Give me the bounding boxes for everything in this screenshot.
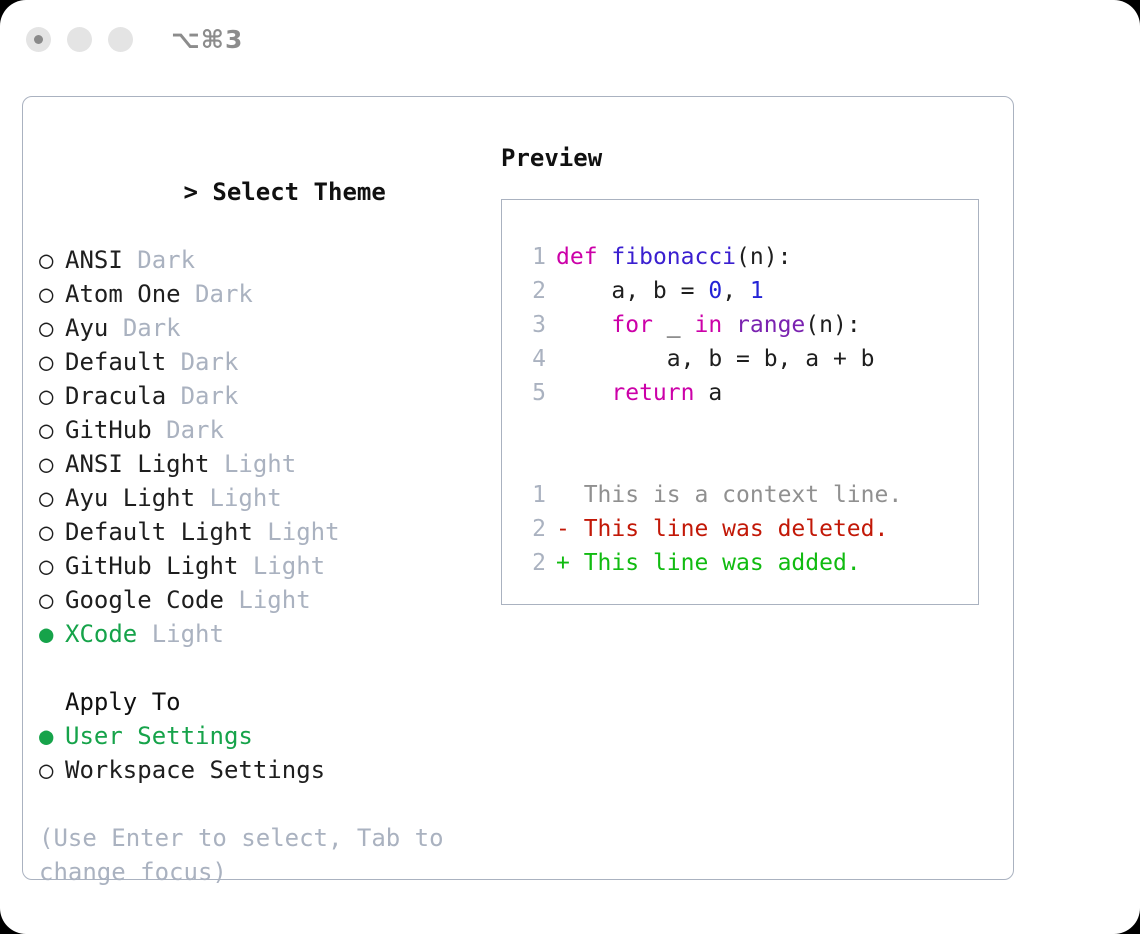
code-token-fn: fibonacci <box>611 244 736 270</box>
diff-line-ctx: 1 This is a context line. <box>520 478 978 512</box>
theme-option-name: GitHub <box>65 416 152 444</box>
theme-option-ansi[interactable]: ○ANSI Dark <box>39 243 499 277</box>
theme-name-variant-gap <box>181 280 195 308</box>
code-token-plain: (n): <box>736 244 791 270</box>
code-token-plain: a, b = <box>556 278 708 304</box>
line-number: 2 <box>520 274 546 308</box>
theme-option-name: ANSI <box>65 246 123 274</box>
preview-title: Preview <box>501 141 1001 175</box>
select-theme-prompt-prefix: > <box>184 178 213 206</box>
code-line: 3 for _ in range(n): <box>520 308 978 342</box>
diff-text: This is a context line. <box>584 482 903 508</box>
theme-name-variant-gap <box>166 348 180 376</box>
code-token-plain: a, b = b, a + b <box>556 346 875 372</box>
line-number: 2 <box>520 546 546 580</box>
theme-option-name: GitHub Light <box>65 552 238 580</box>
radio-selected-icon: ● <box>39 719 65 753</box>
code-token-plain: a <box>694 380 722 406</box>
theme-option-name: XCode <box>65 620 137 648</box>
code-line: 2 a, b = 0, 1 <box>520 274 978 308</box>
theme-name-variant-gap <box>224 586 238 614</box>
diff-text: This line was deleted. <box>584 516 889 542</box>
code-token-num: 0 <box>708 278 722 304</box>
theme-option-variant: Dark <box>166 416 224 444</box>
theme-name-variant-gap <box>137 620 151 648</box>
code-token-num: 1 <box>750 278 764 304</box>
code-token-plain <box>722 312 736 338</box>
code-line: 5 return a <box>520 376 978 410</box>
theme-option-google-code[interactable]: ○Google Code Light <box>39 583 499 617</box>
radio-unselected-icon: ○ <box>39 413 65 447</box>
apply-to-option-workspace-settings[interactable]: ○Workspace Settings <box>39 753 499 787</box>
radio-unselected-icon: ○ <box>39 549 65 583</box>
code-token-plain: (n): <box>805 312 860 338</box>
window-titlebar: ⌥⌘3 <box>0 0 1140 78</box>
diff-line-del: 2- This line was deleted. <box>520 512 978 546</box>
radio-unselected-icon: ○ <box>39 311 65 345</box>
code-diff-separator-2 <box>520 444 978 478</box>
radio-unselected-icon: ○ <box>39 379 65 413</box>
preview-column: Preview 1def fibonacci(n):2 a, b = 0, 13… <box>501 141 1001 605</box>
theme-option-ansi-light[interactable]: ○ANSI Light Light <box>39 447 499 481</box>
code-token-plain: , <box>722 278 750 304</box>
theme-name-variant-gap <box>238 552 252 580</box>
theme-option-name: Dracula <box>65 382 166 410</box>
theme-option-xcode[interactable]: ●XCode Light <box>39 617 499 651</box>
code-token-kw: return <box>611 380 694 406</box>
code-diff-separator <box>520 410 978 444</box>
radio-unselected-icon: ○ <box>39 481 65 515</box>
theme-option-name: Ayu Light <box>65 484 195 512</box>
theme-option-variant: Dark <box>195 280 253 308</box>
theme-name-variant-gap <box>123 246 137 274</box>
preview-box: 1def fibonacci(n):2 a, b = 0, 13 for _ i… <box>501 199 979 605</box>
theme-name-variant-gap <box>108 314 122 342</box>
radio-unselected-icon: ○ <box>39 447 65 481</box>
theme-option-variant: Dark <box>123 314 181 342</box>
code-token-plain: _ <box>653 312 695 338</box>
theme-option-variant: Light <box>152 620 224 648</box>
theme-option-name: ANSI Light <box>65 450 210 478</box>
code-token-plain <box>556 380 611 406</box>
line-number: 4 <box>520 342 546 376</box>
code-token-call: range <box>736 312 805 338</box>
line-number: 3 <box>520 308 546 342</box>
keyboard-hint-text: (Use Enter to select, Tab to change focu… <box>39 821 459 889</box>
diff-marker-add: + <box>556 550 584 576</box>
theme-option-default[interactable]: ○Default Dark <box>39 345 499 379</box>
diff-line-add: 2+ This line was added. <box>520 546 978 580</box>
theme-option-variant: Light <box>224 450 296 478</box>
code-line: 4 a, b = b, a + b <box>520 342 978 376</box>
code-token-kw: in <box>694 312 722 338</box>
diff-text: This line was added. <box>584 550 861 576</box>
theme-name-variant-gap <box>195 484 209 512</box>
apply-to-header: Apply To <box>39 685 499 719</box>
theme-option-variant: Dark <box>181 382 239 410</box>
radio-unselected-icon: ○ <box>39 753 65 787</box>
theme-name-variant-gap <box>166 382 180 410</box>
apply-to-option-user-settings[interactable]: ●User Settings <box>39 719 499 753</box>
window-dot-two-icon[interactable] <box>67 27 92 52</box>
theme-option-default-light[interactable]: ○Default Light Light <box>39 515 499 549</box>
theme-option-variant: Light <box>267 518 339 546</box>
theme-name-variant-gap <box>210 450 224 478</box>
app-window: ⌥⌘3 > Select Theme ○ANSI Dark○Atom One D… <box>0 0 1140 934</box>
list-spacer <box>39 651 499 685</box>
radio-unselected-icon: ○ <box>39 515 65 549</box>
code-token-plain <box>556 312 611 338</box>
theme-option-name: Default <box>65 348 166 376</box>
radio-selected-icon: ● <box>39 617 65 651</box>
code-token-kw: for <box>611 312 653 338</box>
theme-option-dracula[interactable]: ○Dracula Dark <box>39 379 499 413</box>
theme-option-variant: Dark <box>181 348 239 376</box>
line-number: 5 <box>520 376 546 410</box>
theme-option-variant: Dark <box>137 246 195 274</box>
line-number: 1 <box>520 478 546 512</box>
theme-option-ayu-light[interactable]: ○Ayu Light Light <box>39 481 499 515</box>
window-dot-three-icon[interactable] <box>108 27 133 52</box>
keyboard-shortcut-label: ⌥⌘3 <box>171 25 243 54</box>
theme-picker-column: > Select Theme ○ANSI Dark○Atom One Dark○… <box>39 141 499 889</box>
diff-marker-del: - <box>556 516 584 542</box>
theme-name-variant-gap <box>152 416 166 444</box>
radio-unselected-icon: ○ <box>39 277 65 311</box>
radio-unselected-icon: ○ <box>39 583 65 617</box>
select-theme-label: Select Theme <box>212 178 385 206</box>
theme-option-github[interactable]: ○GitHub Dark <box>39 413 499 447</box>
theme-option-ayu[interactable]: ○Ayu Dark <box>39 311 499 345</box>
theme-option-atom-one[interactable]: ○Atom One Dark <box>39 277 499 311</box>
main-panel: > Select Theme ○ANSI Dark○Atom One Dark○… <box>22 96 1014 880</box>
radio-unselected-icon: ○ <box>39 345 65 379</box>
theme-list: ○ANSI Dark○Atom One Dark○Ayu Dark○Defaul… <box>39 243 499 651</box>
line-number: 1 <box>520 240 546 274</box>
theme-option-name: Ayu <box>65 314 108 342</box>
record-dot-icon[interactable] <box>26 27 51 52</box>
theme-option-name: Google Code <box>65 586 224 614</box>
record-dot-inner <box>34 35 43 44</box>
theme-option-variant: Light <box>238 586 310 614</box>
hint-spacer <box>39 787 499 821</box>
theme-option-name: Atom One <box>65 280 181 308</box>
apply-to-option-label: Workspace Settings <box>65 756 325 784</box>
line-number: 2 <box>520 512 546 546</box>
diff-marker-ctx <box>556 482 584 508</box>
select-theme-header: > Select Theme <box>39 141 499 243</box>
theme-name-variant-gap <box>253 518 267 546</box>
code-sample: 1def fibonacci(n):2 a, b = 0, 13 for _ i… <box>520 240 978 410</box>
code-line: 1def fibonacci(n): <box>520 240 978 274</box>
code-token-kw: def <box>556 244 598 270</box>
code-token-plain <box>598 244 612 270</box>
diff-sample: 1 This is a context line.2- This line wa… <box>520 478 978 580</box>
theme-option-name: Default Light <box>65 518 253 546</box>
radio-unselected-icon: ○ <box>39 243 65 277</box>
theme-option-variant: Light <box>210 484 282 512</box>
theme-option-github-light[interactable]: ○GitHub Light Light <box>39 549 499 583</box>
theme-option-variant: Light <box>253 552 325 580</box>
apply-to-option-label: User Settings <box>65 722 253 750</box>
apply-to-list: ●User Settings○Workspace Settings <box>39 719 499 787</box>
